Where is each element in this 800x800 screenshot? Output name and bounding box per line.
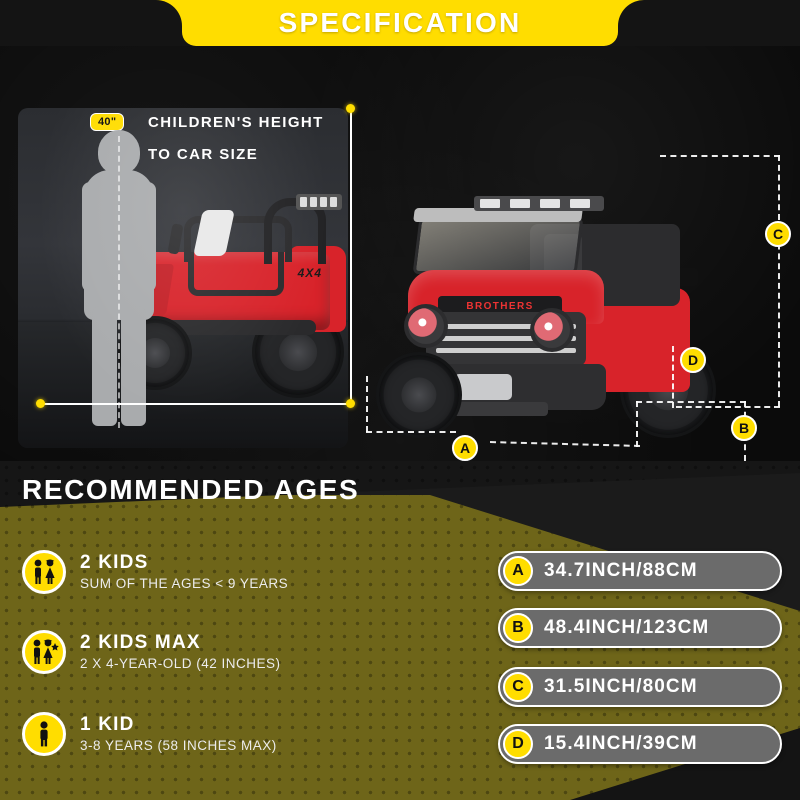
dash-a-left xyxy=(366,431,456,433)
pill-value-b: 48.4INCH/123CM xyxy=(544,617,709,639)
age-title-1: 2 KIDS xyxy=(80,553,288,574)
one-kid-icon xyxy=(22,712,66,756)
guide-dot-bottom-right xyxy=(346,399,355,408)
age-title-3: 1 KID xyxy=(80,715,277,736)
height-badge: 40" xyxy=(90,113,124,131)
age-row-2: 2 KIDS MAX 2 X 4-YEAR-OLD (42 INCHES) xyxy=(22,630,281,674)
ribbon-flare-right xyxy=(618,0,644,26)
pill-letter-c: C xyxy=(503,672,533,702)
door-cage xyxy=(188,252,284,296)
header-ribbon: SPECIFICATION xyxy=(182,0,618,46)
dash-b-riser xyxy=(636,401,638,447)
decal-4x4: 4X4 xyxy=(298,266,322,280)
brand-decal: BROTHERS xyxy=(466,301,533,312)
pill-value-d: 15.4INCH/39CM xyxy=(544,733,698,755)
roof-light-bar xyxy=(474,196,604,211)
roof-light-bar-side xyxy=(296,194,342,210)
rear-body xyxy=(290,246,346,332)
age-row-1: 2 KIDS SUM OF THE AGES < 9 YEARS xyxy=(22,550,288,594)
silhouette-torso xyxy=(84,170,154,320)
winch xyxy=(454,374,512,400)
dash-c-vertical xyxy=(778,155,780,407)
seat-side xyxy=(193,210,235,256)
height-dashed-axis xyxy=(118,136,120,428)
hood-side xyxy=(118,264,174,316)
side-mirror xyxy=(167,223,183,254)
section-title: RECOMMENDED AGES xyxy=(22,474,359,506)
marker-b: B xyxy=(731,415,757,441)
pill-value-a: 34.7INCH/88CM xyxy=(544,560,698,582)
headlight-right xyxy=(530,308,574,352)
age-text-3: 1 KID 3-8 YEARS (58 INCHES MAX) xyxy=(80,715,277,754)
dimension-pill-c: C 31.5INCH/80CM xyxy=(498,667,782,707)
pill-letter-d: D xyxy=(503,729,533,759)
front-view-front-tire xyxy=(376,352,462,438)
rear-tire xyxy=(252,306,344,398)
two-kids-max-icon xyxy=(22,630,66,674)
car-body-side xyxy=(132,252,330,330)
age-subtitle-1: SUM OF THE AGES < 9 YEARS xyxy=(80,576,288,591)
dimension-pill-b: B 48.4INCH/123CM xyxy=(498,608,782,648)
age-row-3: 1 KID 3-8 YEARS (58 INCHES MAX) xyxy=(22,712,277,756)
dash-d-vertical xyxy=(672,346,674,408)
age-text-1: 2 KIDS SUM OF THE AGES < 9 YEARS xyxy=(80,553,288,592)
age-text-2: 2 KIDS MAX 2 X 4-YEAR-OLD (42 INCHES) xyxy=(80,633,281,672)
dash-c-top xyxy=(660,155,780,157)
marker-d: D xyxy=(680,347,706,373)
pill-letter-a: A xyxy=(503,556,533,586)
dash-a-riser xyxy=(366,376,368,432)
rocker-panel xyxy=(140,320,316,335)
pill-letter-b: B xyxy=(503,613,533,643)
age-subtitle-2: 2 X 4-YEAR-OLD (42 INCHES) xyxy=(80,656,281,671)
ride-on-car-front-view: BROTHERS xyxy=(380,196,710,436)
ribbon-flare-left xyxy=(156,0,182,26)
child-silhouette: 40" xyxy=(82,130,156,426)
windshield xyxy=(413,218,584,274)
dimension-pill-d: D 15.4INCH/39CM xyxy=(498,724,782,764)
age-subtitle-3: 3-8 YEARS (58 INCHES MAX) xyxy=(80,738,277,753)
product-photo-stage: 4X4 40" CHILDREN'S HEIGHT TO CAR SIZE xyxy=(0,46,800,461)
silhouette-leg-right xyxy=(121,306,146,426)
caption-line-1: CHILDREN'S HEIGHT xyxy=(148,114,324,131)
guide-dot-bottom-left xyxy=(36,399,45,408)
guide-dot-top-right xyxy=(346,104,355,113)
page-title: SPECIFICATION xyxy=(279,7,522,39)
right-edge-guide xyxy=(350,108,352,405)
roll-cage-front xyxy=(184,216,292,262)
roll-bar xyxy=(264,198,326,264)
ride-on-car-side-view: 4X4 xyxy=(114,194,346,409)
studio-floor xyxy=(18,322,348,448)
dash-c-bottom xyxy=(676,406,780,408)
silhouette-leg-left xyxy=(92,306,117,426)
marker-a: A xyxy=(452,435,478,461)
two-kids-icon xyxy=(22,550,66,594)
age-title-2: 2 KIDS MAX xyxy=(80,633,281,654)
silhouette-arm-right xyxy=(140,182,156,292)
front-tire xyxy=(118,316,192,390)
pill-value-c: 31.5INCH/80CM xyxy=(544,676,698,698)
marker-c: C xyxy=(765,221,791,247)
silhouette-head xyxy=(98,130,140,174)
dimension-pill-a: A 34.7INCH/88CM xyxy=(498,551,782,591)
dash-b-top xyxy=(636,401,746,403)
silhouette-arm-left xyxy=(82,182,98,292)
specification-infographic: SPECIFICATION 4X4 xyxy=(0,0,800,800)
baseline-guide xyxy=(40,403,352,405)
headlight-left xyxy=(404,304,448,348)
caption-line-2: TO CAR SIZE xyxy=(148,146,258,163)
